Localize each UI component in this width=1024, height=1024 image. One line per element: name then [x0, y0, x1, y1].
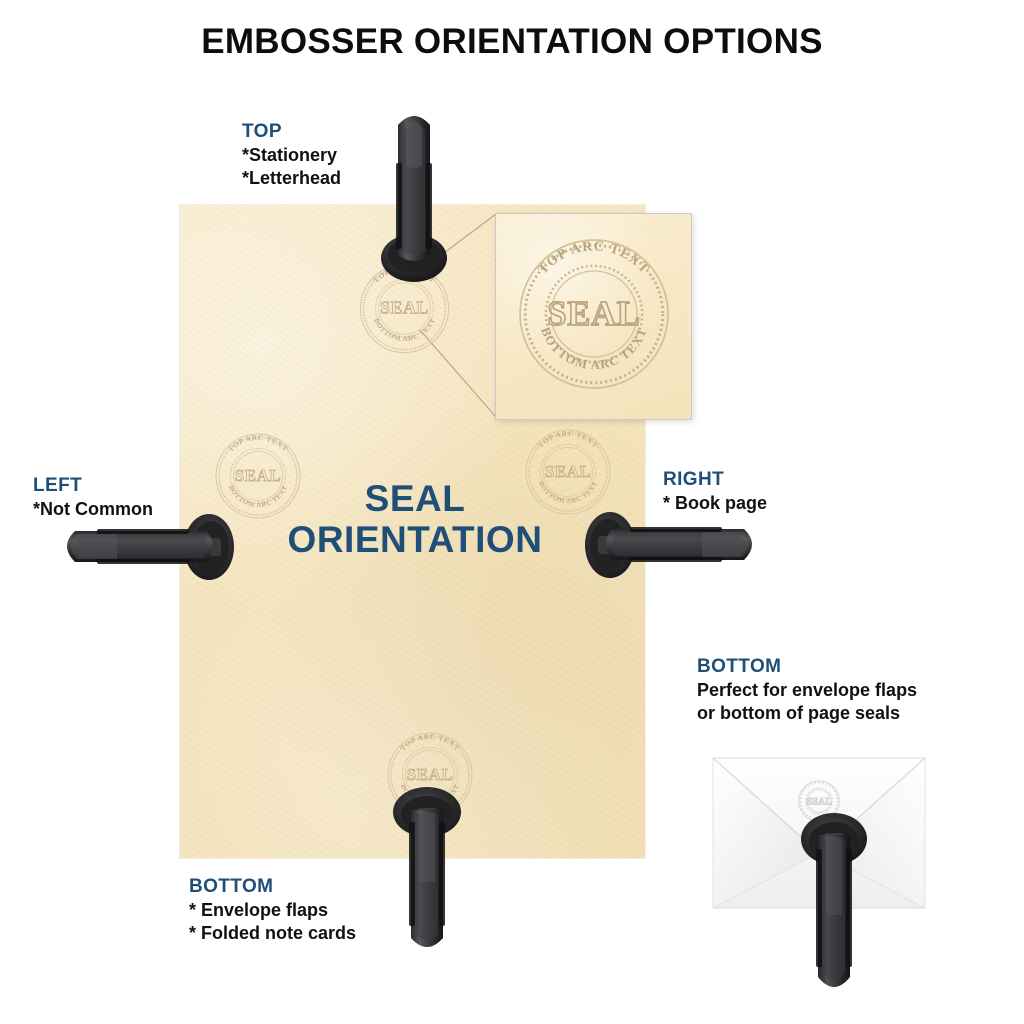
callout-left-heading: LEFT — [33, 474, 153, 498]
svg-text:BOTTOM ARC TEXT: BOTTOM ARC TEXT — [538, 325, 650, 372]
embosser-bottom[interactable] — [386, 782, 468, 960]
callout-top-line-1: *Stationery — [242, 144, 341, 167]
embosser-right[interactable] — [572, 508, 762, 580]
callout-bottom-left: BOTTOM * Envelope flaps * Folded note ca… — [189, 875, 356, 946]
page-title: EMBOSSER ORIENTATION OPTIONS — [0, 22, 1024, 62]
callout-bottom-left-line-1: * Envelope flaps — [189, 899, 356, 922]
callout-top-line-2: *Letterhead — [242, 167, 341, 190]
embosser-envelope[interactable] — [795, 805, 873, 1000]
callout-left: LEFT *Not Common — [33, 474, 153, 521]
center-caption: SEAL ORIENTATION — [255, 478, 575, 561]
seal-impression-magnified: TOP ARC TEXT BOTTOM ARC TEXT SEAL — [508, 228, 680, 400]
svg-text:TOP ARC TEXT: TOP ARC TEXT — [535, 238, 653, 276]
callout-bottom-right: BOTTOM Perfect for envelope flaps or bot… — [697, 655, 917, 726]
center-caption-line2: ORIENTATION — [255, 519, 575, 560]
infographic-canvas: EMBOSSER ORIENTATION OPTIONS TOP ARC TEX… — [0, 0, 1024, 1024]
svg-text:SEAL: SEAL — [547, 295, 640, 333]
callout-left-line-1: *Not Common — [33, 498, 153, 521]
callout-top-heading: TOP — [242, 120, 341, 144]
embosser-top[interactable] — [376, 105, 452, 290]
callout-bottom-right-heading: BOTTOM — [697, 655, 917, 679]
callout-bottom-right-line-2: or bottom of page seals — [697, 702, 917, 725]
callout-bottom-right-line-1: Perfect for envelope flaps — [697, 679, 917, 702]
callout-right: RIGHT * Book page — [663, 468, 767, 515]
magnified-seal-inset: TOP ARC TEXT BOTTOM ARC TEXT SEAL — [495, 213, 692, 420]
callout-bottom-left-line-2: * Folded note cards — [189, 922, 356, 945]
center-caption-line1: SEAL — [255, 478, 575, 519]
callout-right-line-1: * Book page — [663, 492, 767, 515]
callout-right-heading: RIGHT — [663, 468, 767, 492]
callout-top: TOP *Stationery *Letterhead — [242, 120, 341, 191]
callout-bottom-left-heading: BOTTOM — [189, 875, 356, 899]
